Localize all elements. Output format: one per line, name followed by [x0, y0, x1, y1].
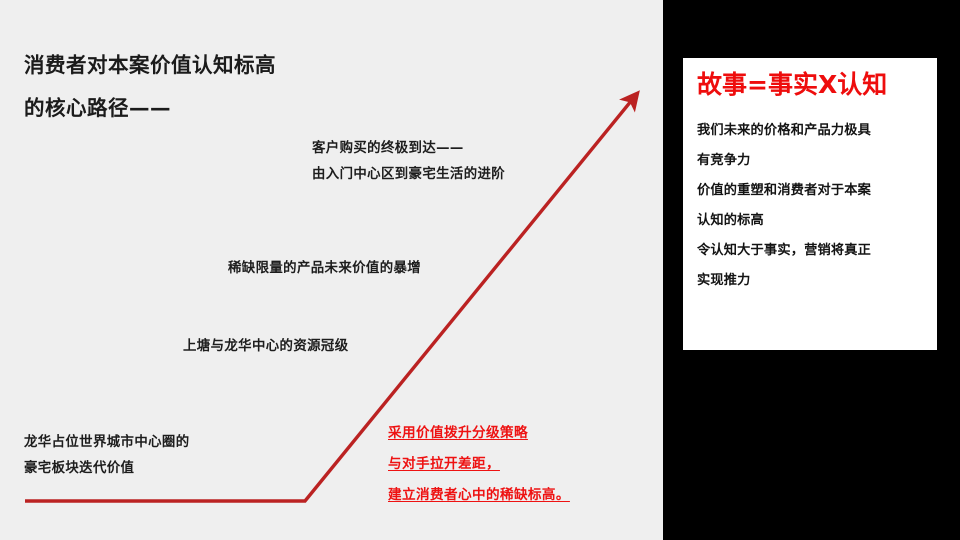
- page-title-line-2: 的核心路径——: [24, 98, 444, 119]
- callout-heading: 故事=事实X认知: [697, 72, 923, 98]
- conclusion-line-3: 建立消费者心中的稀缺标高。: [388, 480, 570, 511]
- page-title: 消费者对本案价值认知标高 的核心路径——: [24, 55, 444, 118]
- step-label-base-line-2: 豪宅板块迭代价值: [24, 456, 190, 482]
- callout-body-line-6: 实现推力: [697, 266, 923, 296]
- step-label-low: 上塘与龙华中心的资源冠级: [183, 334, 349, 360]
- callout-body-line-3: 价值的重塑和消费者对于本案: [697, 176, 923, 206]
- conclusion-line-2: 与对手拉开差距，: [388, 449, 570, 480]
- step-label-top-line-1: 客户购买的终极到达——: [312, 136, 505, 162]
- callout-body-line-4: 认知的标高: [697, 206, 923, 236]
- step-label-mid-line-1: 稀缺限量的产品未来价值的暴增: [228, 256, 421, 282]
- step-label-base: 龙华占位世界城市中心圈的 豪宅板块迭代价值: [24, 430, 190, 482]
- callout-body-line-5: 令认知大于事实，营销将真正: [697, 236, 923, 266]
- callout-card: 故事=事实X认知 我们未来的价格和产品力极具 有竞争力 价值的重塑和消费者对于本…: [683, 58, 937, 350]
- callout-body: 我们未来的价格和产品力极具 有竞争力 价值的重塑和消费者对于本案 认知的标高 令…: [697, 116, 923, 296]
- conclusion-line-1: 采用价值拨升分级策略: [388, 418, 570, 449]
- left-content-pane: 消费者对本案价值认知标高 的核心路径—— 客户购买的终极到达—— 由入门中心区到…: [0, 0, 663, 540]
- callout-body-line-1: 我们未来的价格和产品力极具: [697, 116, 923, 146]
- callout-panel: 故事=事实X认知 我们未来的价格和产品力极具 有竞争力 价值的重塑和消费者对于本…: [663, 0, 960, 540]
- step-label-mid: 稀缺限量的产品未来价值的暴增: [228, 256, 421, 282]
- slide-canvas: 消费者对本案价值认知标高 的核心路径—— 客户购买的终极到达—— 由入门中心区到…: [0, 0, 960, 540]
- step-label-low-line-1: 上塘与龙华中心的资源冠级: [183, 334, 349, 360]
- step-label-base-line-1: 龙华占位世界城市中心圈的: [24, 430, 190, 456]
- conclusion-block: 采用价值拨升分级策略 与对手拉开差距， 建立消费者心中的稀缺标高。: [388, 418, 570, 511]
- callout-body-line-2: 有竞争力: [697, 146, 923, 176]
- page-title-line-1: 消费者对本案价值认知标高: [24, 55, 444, 76]
- step-label-top-line-2: 由入门中心区到豪宅生活的进阶: [312, 162, 505, 188]
- step-label-top: 客户购买的终极到达—— 由入门中心区到豪宅生活的进阶: [312, 136, 505, 188]
